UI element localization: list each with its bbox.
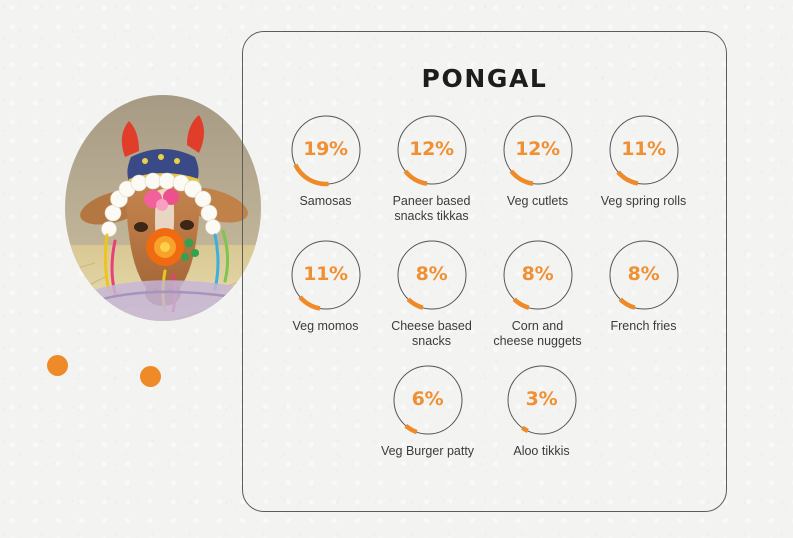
deco-dot-1 xyxy=(47,355,68,376)
donut-percentage-value: 19% xyxy=(291,115,361,185)
donut-percentage-value: 6% xyxy=(393,365,463,435)
donut-row-1: 19%Samosas12%Paneer based snacks tikkas1… xyxy=(243,115,726,224)
donut-item: 3%Aloo tikkis xyxy=(485,365,599,459)
pongal-decorated-cow-photo xyxy=(65,95,261,321)
donut-category-label: Corn and cheese nuggets xyxy=(493,319,581,349)
donut-item: 8%Cheese based snacks xyxy=(379,240,485,349)
donut-item: 19%Samosas xyxy=(273,115,379,209)
deco-dot-2 xyxy=(140,366,161,387)
donut-category-label: Paneer based snacks tikkas xyxy=(393,194,471,224)
donut-percentage-value: 8% xyxy=(503,240,573,310)
donut-percentage-value: 11% xyxy=(609,115,679,185)
donut-category-label: Aloo tikkis xyxy=(513,444,569,459)
donut-category-label: Veg cutlets xyxy=(507,194,568,209)
donut-ring: 8% xyxy=(609,240,679,310)
donut-ring: 12% xyxy=(397,115,467,185)
donut-ring: 3% xyxy=(507,365,577,435)
donut-category-label: Veg momos xyxy=(292,319,358,334)
donut-category-label: Cheese based snacks xyxy=(391,319,472,349)
donut-category-label: French fries xyxy=(611,319,677,334)
donut-percentage-value: 3% xyxy=(507,365,577,435)
donut-ring: 19% xyxy=(291,115,361,185)
donut-percentage-value: 11% xyxy=(291,240,361,310)
pongal-stats-card: PONGAL 19%Samosas12%Paneer based snacks … xyxy=(242,31,727,512)
donut-ring: 8% xyxy=(397,240,467,310)
donut-percentage-value: 8% xyxy=(397,240,467,310)
donut-row-2: 11%Veg momos8%Cheese based snacks8%Corn … xyxy=(243,240,726,349)
donut-item: 11%Veg momos xyxy=(273,240,379,334)
donut-ring: 11% xyxy=(609,115,679,185)
donut-item: 11%Veg spring rolls xyxy=(591,115,697,209)
donut-item: 12%Paneer based snacks tikkas xyxy=(379,115,485,224)
donut-ring: 6% xyxy=(393,365,463,435)
donut-percentage-value: 8% xyxy=(609,240,679,310)
donut-item: 8%Corn and cheese nuggets xyxy=(485,240,591,349)
donut-item: 6%Veg Burger patty xyxy=(371,365,485,459)
donut-category-label: Veg Burger patty xyxy=(381,444,474,459)
donut-ring: 11% xyxy=(291,240,361,310)
donut-item: 8%French fries xyxy=(591,240,697,334)
donut-row-3: 6%Veg Burger patty3%Aloo tikkis xyxy=(243,365,726,459)
cow-photo-illustration xyxy=(65,95,261,321)
donut-percentage-value: 12% xyxy=(397,115,467,185)
page-title: PONGAL xyxy=(243,64,726,93)
donut-category-label: Samosas xyxy=(299,194,351,209)
donut-item: 12%Veg cutlets xyxy=(485,115,591,209)
donut-ring: 8% xyxy=(503,240,573,310)
donut-percentage-value: 12% xyxy=(503,115,573,185)
donut-category-label: Veg spring rolls xyxy=(601,194,686,209)
donut-ring: 12% xyxy=(503,115,573,185)
